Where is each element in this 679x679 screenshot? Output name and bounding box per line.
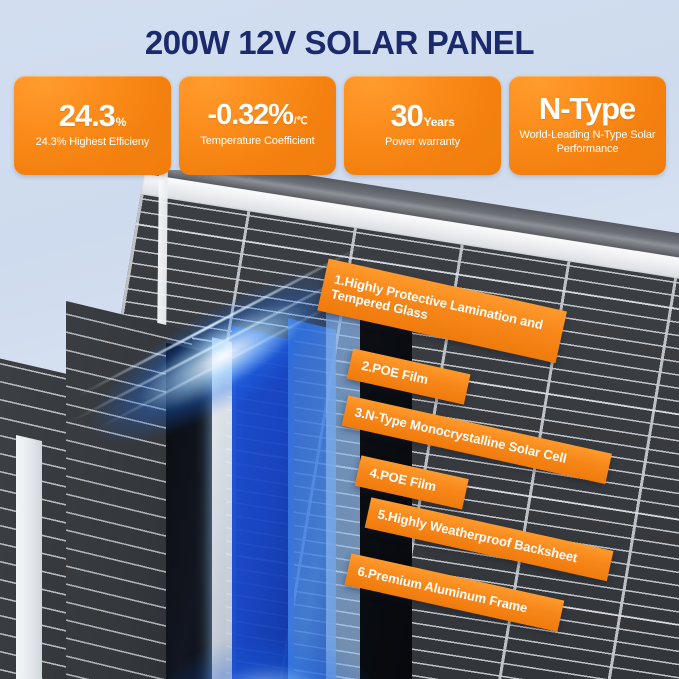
spec-card-efficiency: 24.3 % 24.3% Highest Efficieny <box>14 76 171 175</box>
spec-unit: /℃ <box>294 117 308 127</box>
spec-value: -0.32% <box>208 101 293 130</box>
spec-card-temperature-coefficient: -0.32% /℃ Temperature Coefficient <box>179 76 336 175</box>
spec-description: World-Leading N-Type Solar Performance <box>511 129 664 156</box>
spec-value: N-Type <box>539 93 635 124</box>
spec-headline: N-Type <box>539 93 636 124</box>
glow-highlight-bottom <box>158 618 438 679</box>
spec-unit: Years <box>424 116 455 128</box>
spec-card-cell-type: N-Type World-Leading N-Type Solar Perfor… <box>509 76 666 175</box>
spec-value: 30 <box>390 100 422 131</box>
product-infographic: 200W 12V SOLAR PANEL 24.3 % 24.3% Highes… <box>0 0 679 679</box>
spec-headline: -0.32% /℃ <box>208 101 308 130</box>
spec-headline: 24.3 % <box>59 100 126 131</box>
spec-value: 24.3 <box>59 100 115 131</box>
solar-panel-illustration <box>0 170 679 679</box>
spec-description: Temperature Coefficient <box>197 135 317 148</box>
spec-description: Power warranty <box>382 136 463 149</box>
spec-card-warranty: 30 Years Power warranty <box>344 76 501 175</box>
layer-stack-exploded-view <box>8 288 338 679</box>
spec-description: 24.3% Highest Efficieny <box>33 136 153 149</box>
spec-unit: % <box>116 116 126 128</box>
page-title: 200W 12V SOLAR PANEL <box>0 24 679 62</box>
spec-card-row: 24.3 % 24.3% Highest Efficieny -0.32% /℃… <box>14 76 666 175</box>
spec-headline: 30 Years <box>390 100 454 131</box>
